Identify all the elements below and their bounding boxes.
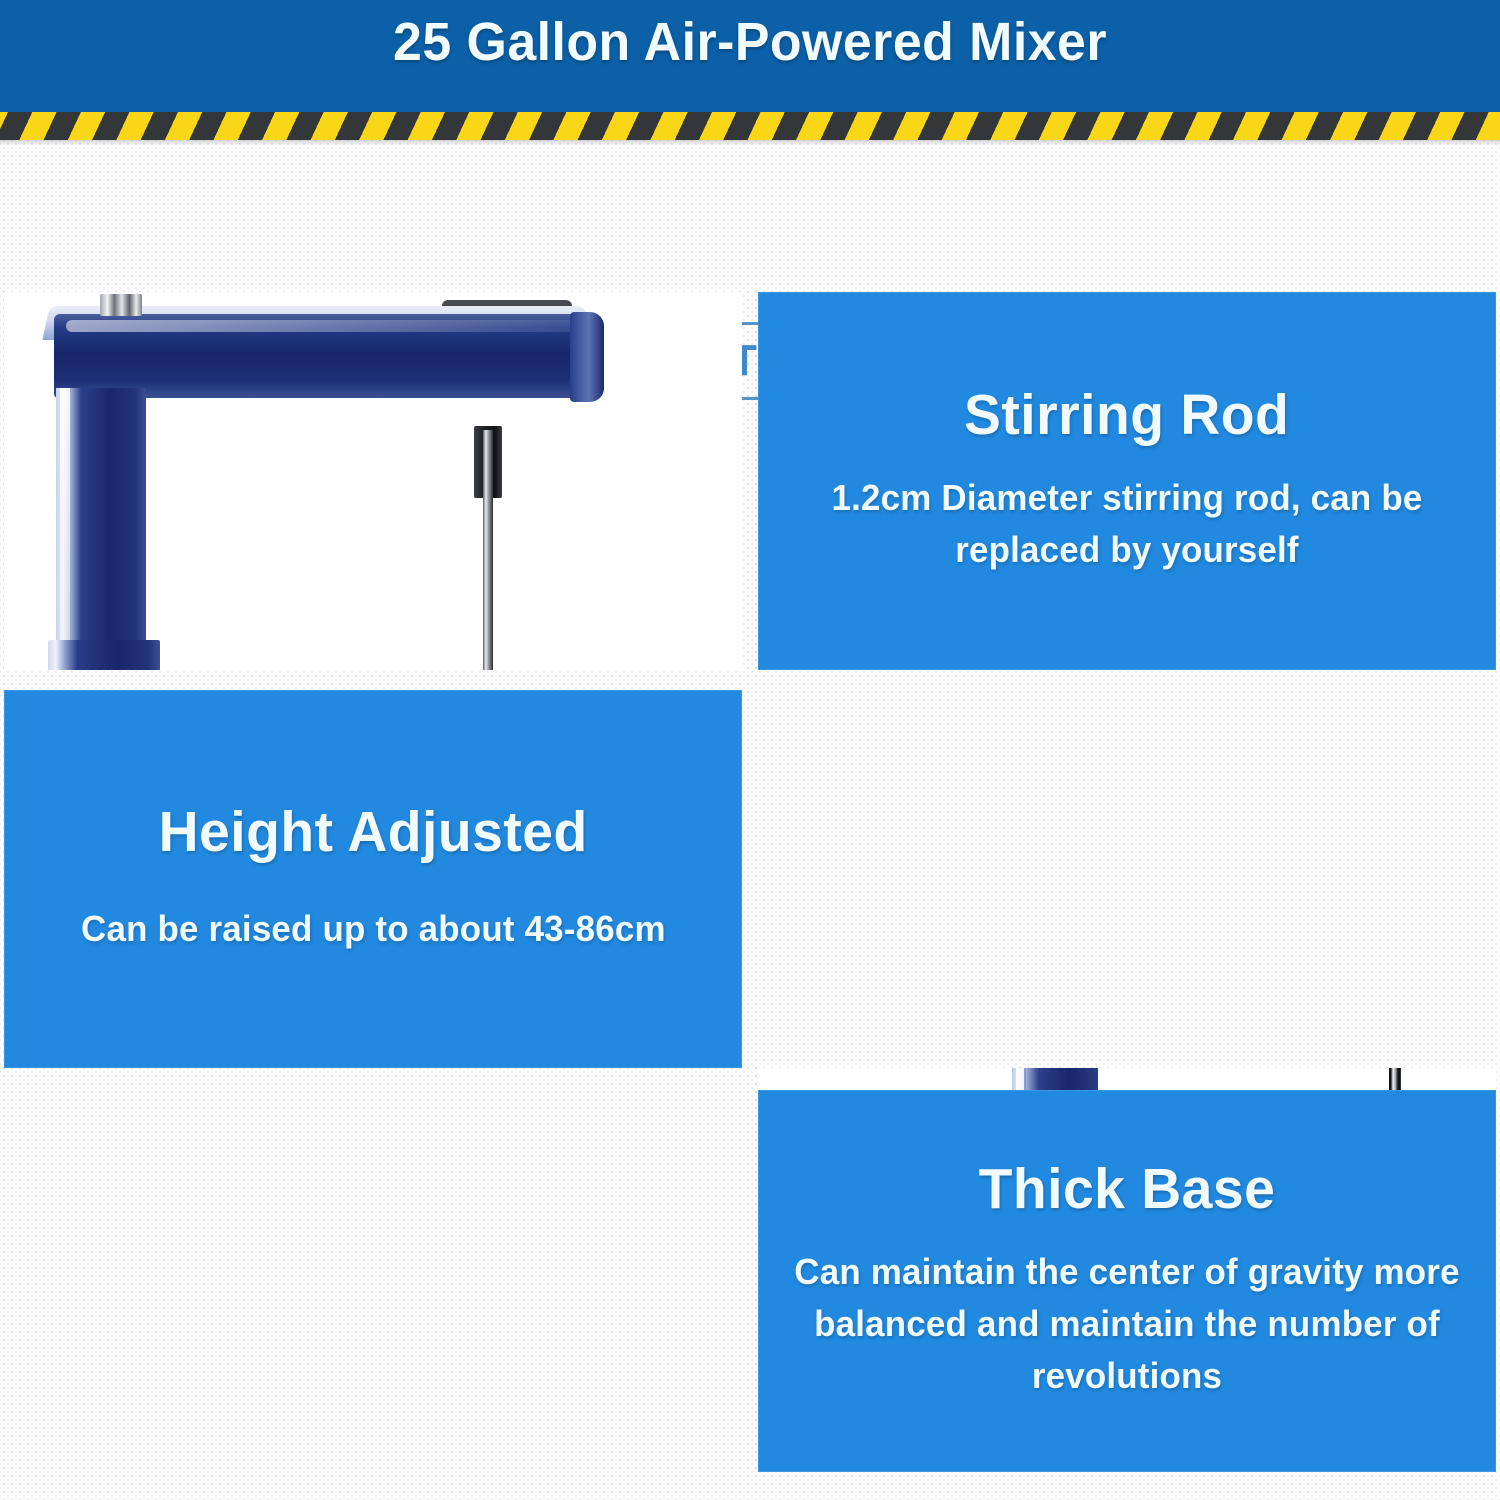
product-title: 25 Gallon Air-Powered Mixer	[30, 11, 1470, 73]
mixer-post-foot	[48, 640, 160, 670]
feature-description-thick-base: Can maintain the center of gravity more …	[794, 1246, 1459, 1403]
feature-title-thick-base: Thick Base	[979, 1160, 1276, 1220]
stirring-rod	[483, 430, 493, 670]
feature-text-thick-base: Thick Base Can maintain the center of gr…	[758, 1090, 1496, 1472]
mixer-post-highlight	[60, 388, 70, 670]
feature-description-height-adjusted: Can be raised up to about 43-86cm	[81, 903, 666, 955]
mixer-arm-highlight	[66, 320, 586, 332]
mixer-top-bolt	[100, 294, 142, 316]
hazard-stripe-divider	[0, 112, 1500, 140]
feature-text-height-adjusted: Height Adjusted Can be raised up to abou…	[4, 690, 742, 1068]
header-banner: 25 Gallon Air-Powered Mixer	[0, 0, 1500, 112]
feature-grid: Stirring Rod 1.2cm Diameter stirring rod…	[0, 292, 1500, 1474]
feature-text-stirring-rod: Stirring Rod 1.2cm Diameter stirring rod…	[758, 292, 1496, 670]
infographic-page: 25 Gallon Air-Powered Mixer PRODUCT DETA…	[0, 0, 1500, 1500]
feature-title-height-adjusted: Height Adjusted	[158, 803, 587, 863]
section-header-band: PRODUCT DETAILS	[0, 146, 1500, 286]
feature-title-stirring-rod: Stirring Rod	[964, 386, 1289, 446]
feature-photo-stirring-rod	[4, 292, 742, 670]
feature-description-stirring-rod: 1.2cm Diameter stirring rod, can be repl…	[794, 472, 1459, 576]
mixer-arm-end-cap	[570, 312, 604, 402]
